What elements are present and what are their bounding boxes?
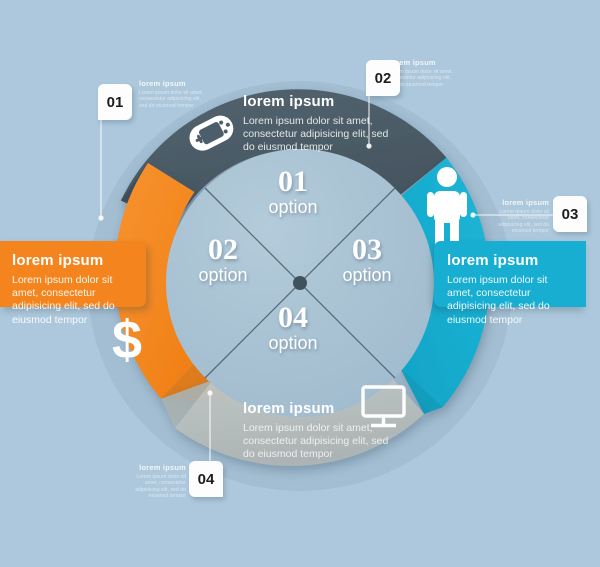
segment-body: Lorem ipsum dolor sit amet, consectetur … bbox=[243, 115, 393, 155]
infographic-canvas: $ bbox=[0, 0, 600, 567]
marker-note-body: Lorem ipsum dolor sit amet, consectetur … bbox=[489, 209, 549, 235]
option-word: option bbox=[238, 333, 348, 353]
segment-01-text: lorem ipsum Lorem ipsum dolor sit amet, … bbox=[243, 93, 393, 155]
center-hub-dot bbox=[293, 276, 307, 290]
marker-tag-01[interactable]: 01 bbox=[98, 84, 132, 120]
segment-title: lorem ipsum bbox=[243, 400, 395, 417]
segment-body: Lorem ipsum dolor sit amet, consectetur … bbox=[12, 274, 134, 327]
segment-03-callout[interactable]: lorem ipsum Lorem ipsum dolor sit amet, … bbox=[434, 241, 586, 307]
marker-note-body: Lorem ipsum dolor sit amet, consectetur … bbox=[133, 474, 186, 500]
option-number: 01 bbox=[238, 167, 348, 197]
segment-04-text: lorem ipsum Lorem ipsum dolor sit amet, … bbox=[243, 400, 395, 462]
option-word: option bbox=[312, 265, 422, 285]
segment-title: lorem ipsum bbox=[447, 252, 574, 269]
option-word: option bbox=[168, 265, 278, 285]
option-number: 03 bbox=[312, 235, 422, 265]
marker-note-title: lorem ipsum bbox=[133, 463, 186, 472]
option-label-02[interactable]: 02 option bbox=[168, 235, 278, 285]
option-number: 02 bbox=[168, 235, 278, 265]
segment-02-callout[interactable]: lorem ipsum Lorem ipsum dolor sit amet, … bbox=[0, 241, 146, 307]
marker-note-body: Lorem ipsum dolor sit amet, consectetur … bbox=[139, 90, 209, 109]
option-word: option bbox=[238, 197, 348, 217]
segment-body: Lorem ipsum dolor sit amet, consectetur … bbox=[447, 274, 574, 327]
segment-title: lorem ipsum bbox=[12, 252, 134, 269]
marker-note-title: lorem ipsum bbox=[489, 198, 549, 207]
marker-note-04: lorem ipsum Lorem ipsum dolor sit amet, … bbox=[133, 463, 186, 500]
marker-note-02: lorem ipsum Lorem ipsum dolor sit amet, … bbox=[389, 58, 459, 88]
marker-note-03: lorem ipsum Lorem ipsum dolor sit amet, … bbox=[489, 198, 549, 235]
option-label-03[interactable]: 03 option bbox=[312, 235, 422, 285]
marker-note-title: lorem ipsum bbox=[139, 79, 209, 88]
marker-note-01: lorem ipsum Lorem ipsum dolor sit amet, … bbox=[139, 79, 209, 109]
segment-body: Lorem ipsum dolor sit amet, consectetur … bbox=[243, 422, 395, 462]
marker-tag-04[interactable]: 04 bbox=[189, 461, 223, 497]
marker-note-title: lorem ipsum bbox=[389, 58, 459, 67]
marker-note-body: Lorem ipsum dolor sit amet, consectetur … bbox=[389, 69, 459, 88]
marker-tag-03[interactable]: 03 bbox=[553, 196, 587, 232]
option-number: 04 bbox=[238, 303, 348, 333]
option-label-01[interactable]: 01 option bbox=[238, 167, 348, 217]
option-label-04[interactable]: 04 option bbox=[238, 303, 348, 353]
